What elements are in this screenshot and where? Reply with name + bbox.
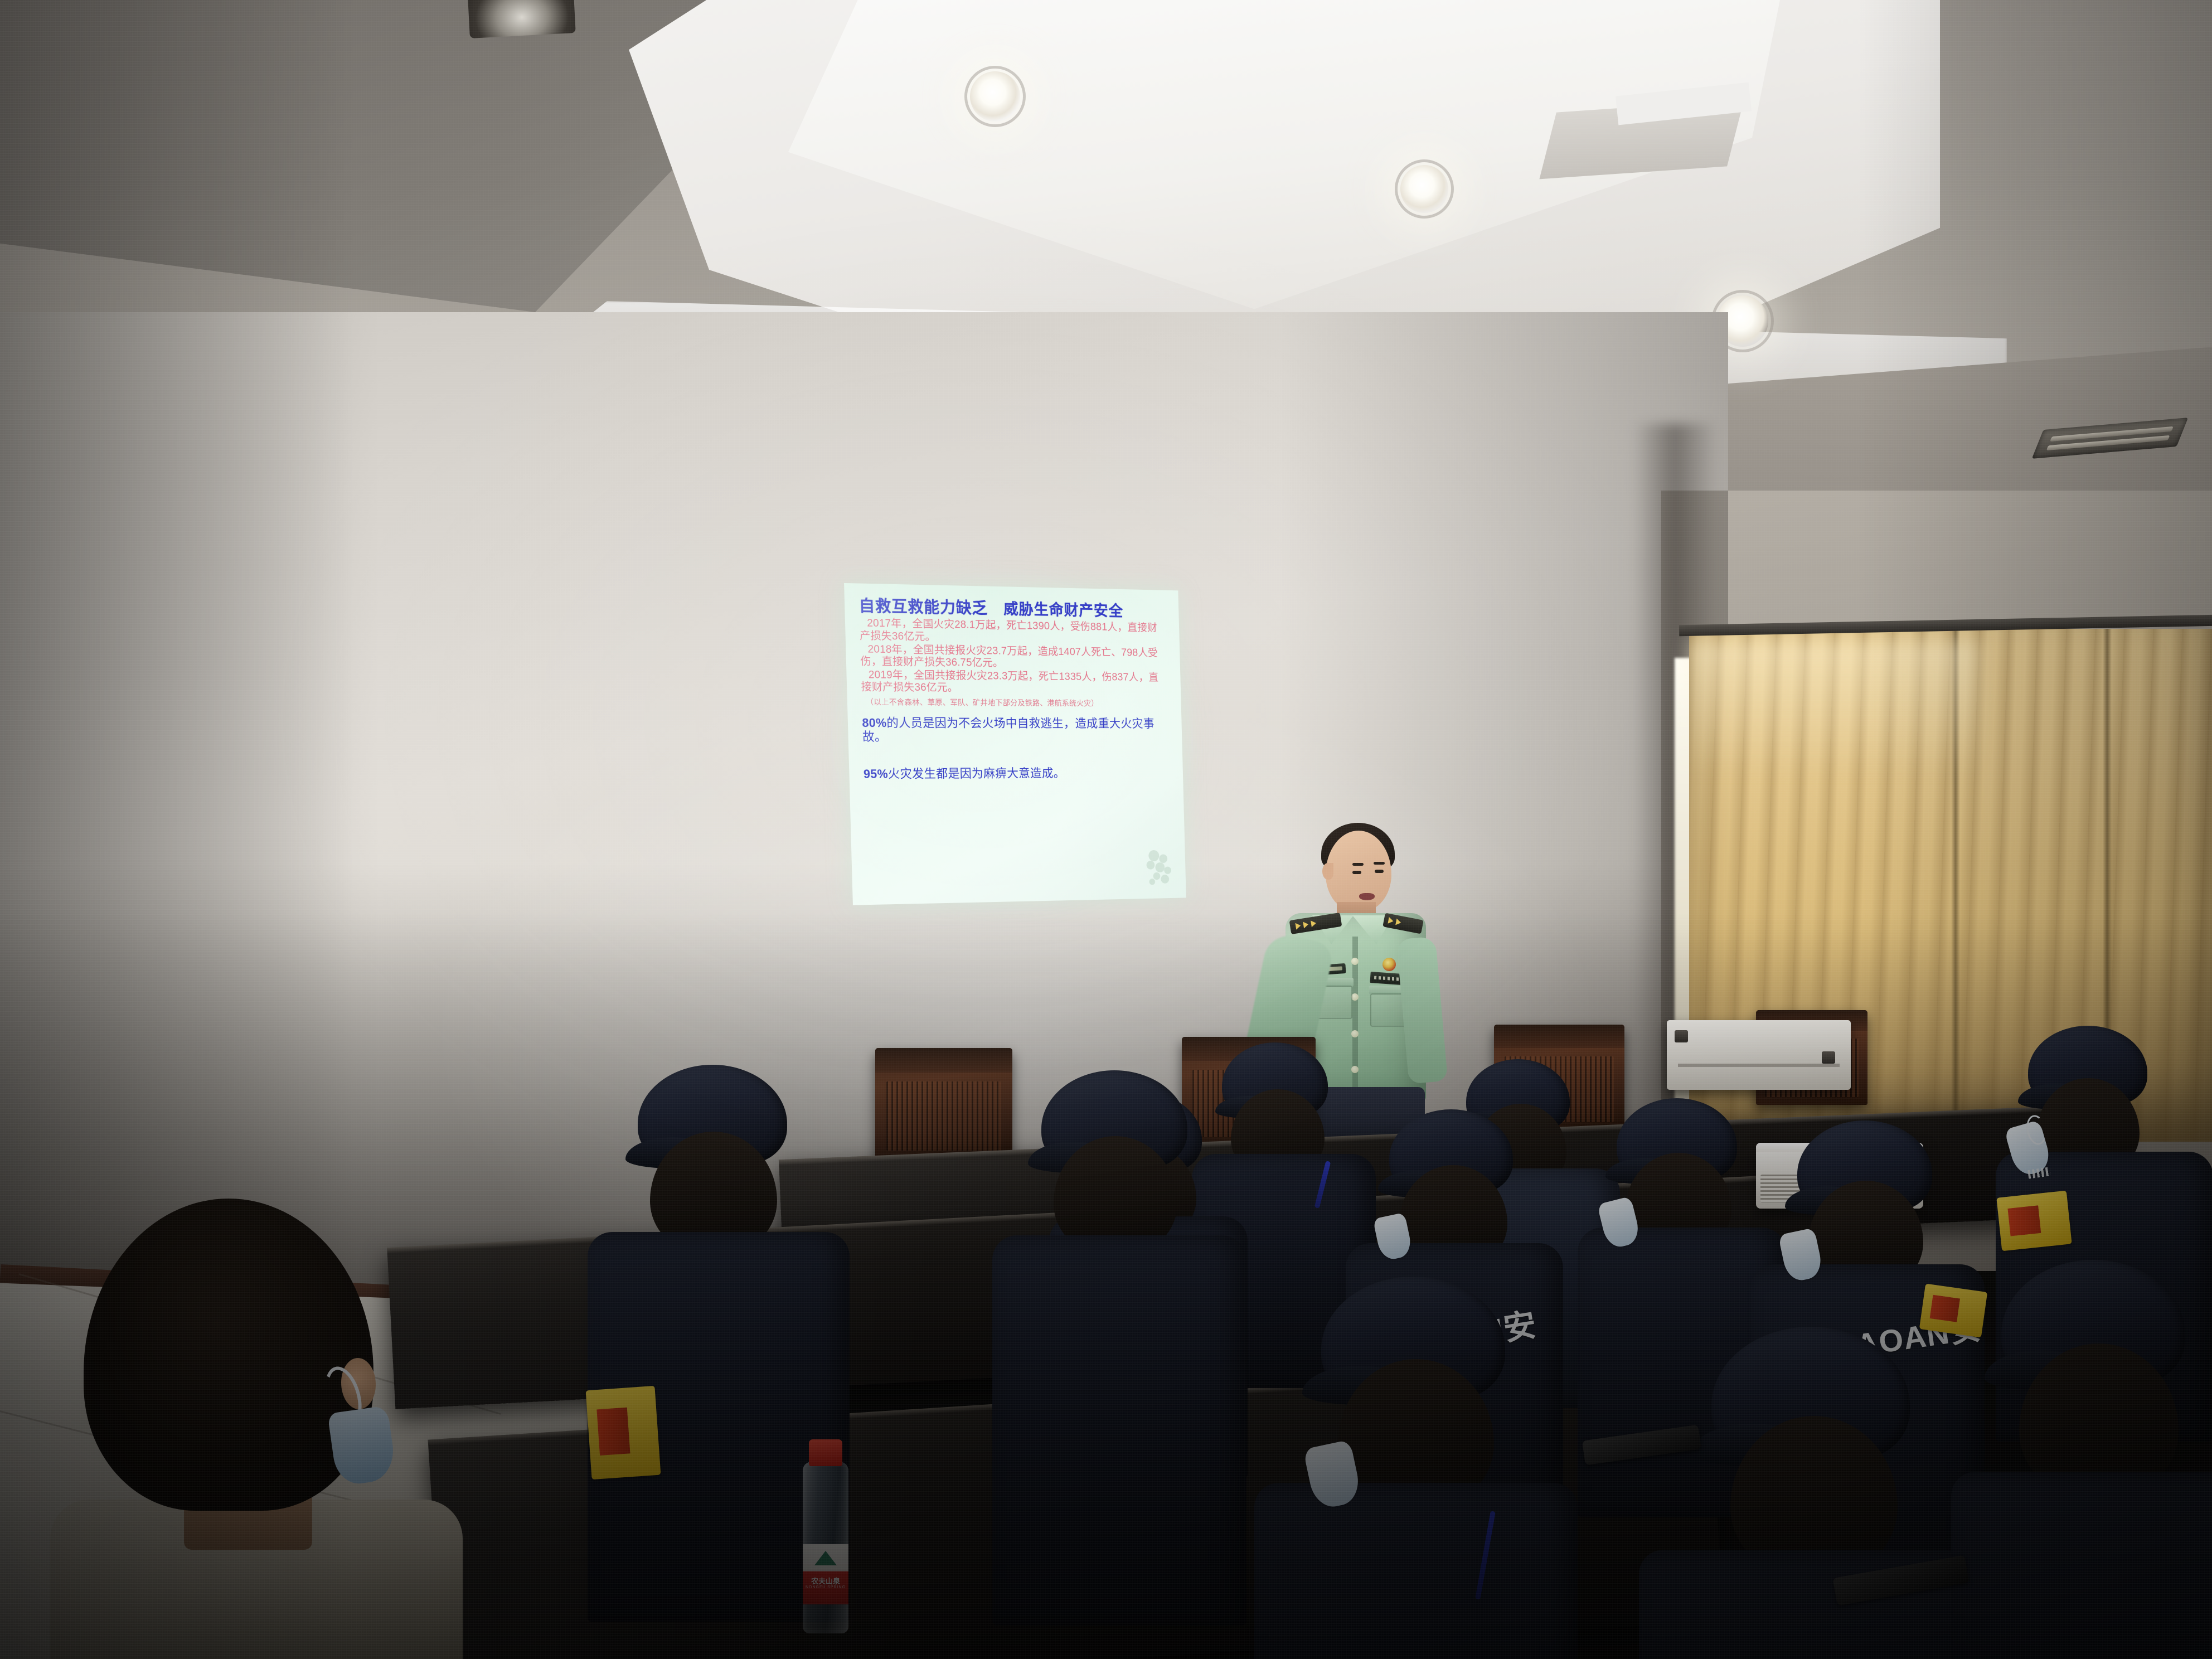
slide-emphasis-80-pct: 80% <box>862 716 887 730</box>
presenter-brow <box>1352 863 1364 866</box>
torso <box>1254 1483 1578 1659</box>
mountain-logo-icon <box>814 1551 837 1565</box>
water-bottle[interactable]: 农夫山泉 NONGFU SPRING <box>798 1439 853 1633</box>
bottle-brand-latin: NONGFU SPRING <box>803 1585 848 1589</box>
torso <box>992 1235 1246 1626</box>
projection-screen-slide: 自救互救能力缺乏 威胁生命财产安全 2017年，全国火灾28.1万起，死亡139… <box>844 583 1186 905</box>
slide-stat-2018: 2018年，全国共接报火灾23.7万起，造成1407人死亡、798人受伤，直接财… <box>860 643 1167 671</box>
presenter-button <box>1351 1066 1359 1073</box>
presenter-button <box>1351 958 1359 965</box>
slide-title: 自救互救能力缺乏 威胁生命财产安全 <box>858 598 1166 620</box>
slide-emphasis-80-text: 的人员是因为不会火场中自救逃生，造成重大火灾事故。 <box>862 716 1154 744</box>
downlight-ring <box>964 66 1026 127</box>
presenter-ear <box>1322 863 1333 880</box>
slide-emphasis-95-text: 火灾发生都是因为麻痹大意造成。 <box>888 767 1065 781</box>
slide-watermark-icon <box>1141 848 1177 887</box>
slide-body: 2017年，全国火灾28.1万起，死亡1390人，受伤881人，直接财产损失36… <box>859 617 1170 781</box>
bottle-cap <box>809 1439 842 1466</box>
slide-emphasis-95: 95%火灾发生都是因为麻痹大意造成。 <box>864 766 1170 781</box>
slide-title-left: 自救互救能力缺乏 <box>858 598 988 617</box>
slide-stat-2019: 2019年，全国共接报火灾23.3万起，死亡1335人，伤837人，直接财产损失… <box>861 668 1168 696</box>
slide-stat-2017: 2017年，全国火灾28.1万起，死亡1390人，受伤881人，直接财产损失36… <box>859 617 1166 647</box>
yellow-armband <box>1919 1284 1987 1338</box>
yellow-armband <box>586 1386 661 1479</box>
yellow-armband <box>1996 1191 2072 1251</box>
slide-title-right: 威胁生命财产安全 <box>1003 601 1124 619</box>
chair[interactable] <box>875 1048 1012 1160</box>
presenter-eye <box>1375 870 1384 873</box>
ceiling-speaker-icon <box>467 0 575 38</box>
downlight-ring <box>1395 159 1454 219</box>
curtain-highlight <box>1689 641 1979 775</box>
slide-emphasis-95-pct: 95% <box>864 767 889 781</box>
presenter-mouth <box>1359 893 1375 900</box>
presenter-button <box>1351 1030 1359 1037</box>
training-room-scene: 自救互救能力缺乏 威胁生命财产安全 2017年，全国火灾28.1万起，死亡139… <box>0 0 2212 1659</box>
presenter-flag-emblem-icon <box>1382 958 1396 971</box>
bottle-brand-cn: 农夫山泉 <box>803 1575 848 1586</box>
slide-footnote: （以上不含森林、草原、军队、矿井地下部分及铁路、港航系统火灾） <box>861 697 1168 709</box>
slide-emphasis-80: 80%的人员是因为不会火场中自救逃生，造成重大火灾事故。 <box>862 716 1169 744</box>
equipment-case[interactable] <box>1667 1020 1851 1090</box>
torso <box>1951 1472 2212 1659</box>
presenter-eye <box>1352 871 1361 874</box>
bottle-label: 农夫山泉 NONGFU SPRING <box>803 1544 848 1604</box>
presenter-brow <box>1374 862 1385 865</box>
